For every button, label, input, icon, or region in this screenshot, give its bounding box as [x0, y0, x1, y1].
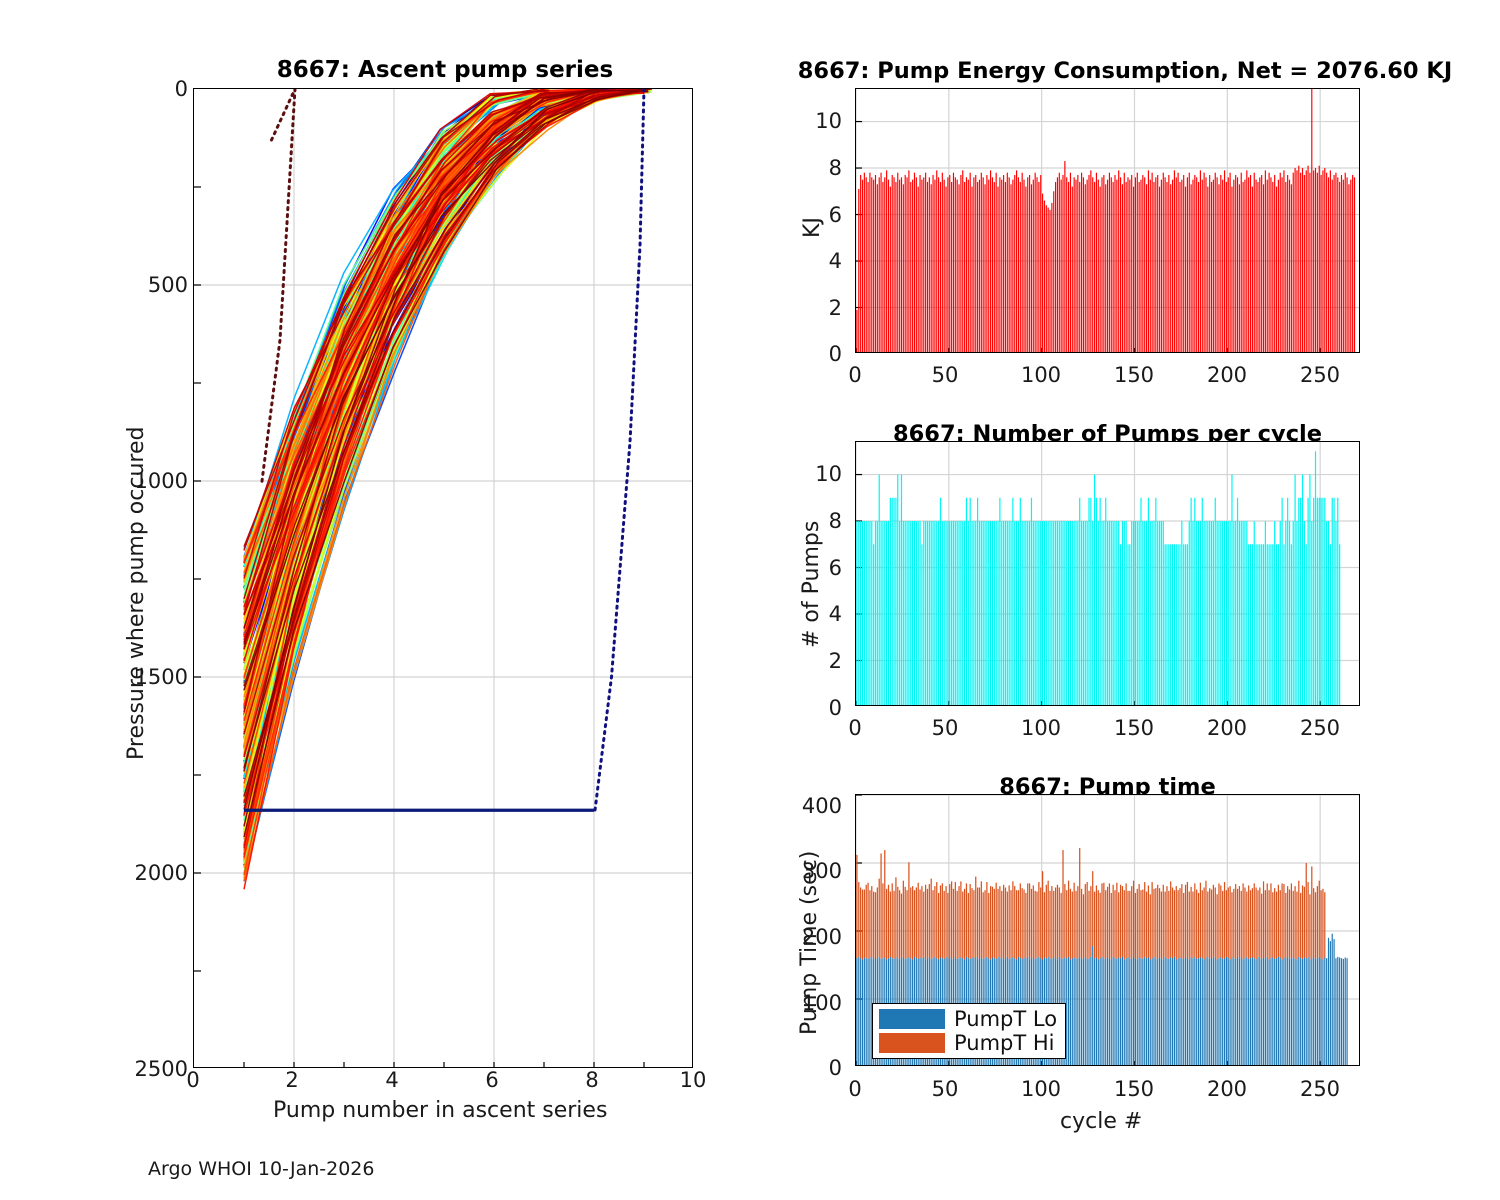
numpumps-ytick-2: 2: [800, 649, 842, 673]
pumptime-xtick-150: 150: [1109, 1077, 1159, 1101]
legend-item-pumpt-hi[interactable]: PumpT Hi: [879, 1033, 1057, 1053]
energy-xtick-150: 150: [1109, 363, 1159, 387]
ascent-xtick-10: 10: [675, 1068, 711, 1092]
energy-bars-canvas: [856, 89, 1360, 353]
ascent-ytick-0: 0: [164, 77, 188, 101]
ascent-x-axis-label: Pump number in ascent series: [273, 1098, 607, 1123]
pumptime-xtick-100: 100: [1016, 1077, 1066, 1101]
legend-item-pumpt-lo[interactable]: PumpT Lo: [879, 1009, 1057, 1029]
ascent-xtick-6: 6: [477, 1068, 507, 1092]
numpumps-xtick-100: 100: [1016, 716, 1066, 740]
legend-label-pumpt-lo: PumpT Lo: [954, 1009, 1057, 1029]
numpumps-plot-area: [855, 441, 1360, 706]
ascent-xtick-2: 2: [277, 1068, 307, 1092]
figure-footer: Argo WHOI 10-Jan-2026: [148, 1158, 374, 1180]
energy-xtick-50: 50: [925, 363, 965, 387]
energy-ytick-6: 6: [800, 203, 842, 227]
numpumps-bars-canvas: [856, 442, 1360, 706]
numpumps-y-axis-label: # of Pumps: [799, 521, 824, 648]
numpumps-xtick-150: 150: [1109, 716, 1159, 740]
pumptime-ytick-200: 200: [785, 925, 842, 949]
energy-plot-area: [855, 88, 1360, 353]
ascent-ytick-1000: 1000: [128, 469, 188, 493]
energy-ytick-2: 2: [800, 296, 842, 320]
ascent-plot-area: [193, 88, 693, 1068]
energy-xtick-100: 100: [1016, 363, 1066, 387]
pumptime-xtick-50: 50: [925, 1077, 965, 1101]
pumptime-xtick-0: 0: [841, 1077, 869, 1101]
numpumps-ytick-6: 6: [800, 556, 842, 580]
legend-label-pumpt-hi: PumpT Hi: [954, 1033, 1055, 1053]
pumptime-xtick-200: 200: [1202, 1077, 1252, 1101]
numpumps-ytick-10: 10: [800, 462, 842, 486]
energy-ytick-0: 0: [800, 342, 842, 366]
ascent-ytick-500: 500: [140, 273, 188, 297]
numpumps-ytick-0: 0: [800, 696, 842, 720]
pumptime-ytick-0: 0: [785, 1056, 842, 1080]
legend-swatch-pumpt-lo: [879, 1009, 945, 1029]
figure-canvas: 8667: Ascent pump series Pressure where …: [0, 0, 1500, 1200]
energy-ytick-10: 10: [800, 109, 842, 133]
ascent-xtick-8: 8: [577, 1068, 607, 1092]
pumptime-ytick-400: 400: [785, 794, 842, 818]
energy-ytick-4: 4: [800, 249, 842, 273]
numpumps-ytick-4: 4: [800, 602, 842, 626]
pumptime-ytick-300: 300: [785, 859, 842, 883]
pumptime-x-axis-label: cycle #: [1060, 1109, 1142, 1134]
energy-ytick-8: 8: [800, 156, 842, 180]
pumptime-legend[interactable]: PumpT Lo PumpT Hi: [872, 1003, 1066, 1059]
numpumps-xtick-200: 200: [1202, 716, 1252, 740]
numpumps-xtick-250: 250: [1295, 716, 1345, 740]
numpumps-xtick-0: 0: [841, 716, 869, 740]
ascent-panel-title: 8667: Ascent pump series: [195, 57, 695, 83]
ascent-series-canvas: [194, 89, 693, 1068]
energy-xtick-200: 200: [1202, 363, 1252, 387]
energy-xtick-0: 0: [841, 363, 869, 387]
energy-panel-title: 8667: Pump Energy Consumption, Net = 207…: [760, 58, 1490, 84]
ascent-ytick-2000: 2000: [128, 861, 188, 885]
ascent-xtick-4: 4: [377, 1068, 407, 1092]
numpumps-xtick-50: 50: [925, 716, 965, 740]
pumptime-xtick-250: 250: [1295, 1077, 1345, 1101]
energy-xtick-250: 250: [1295, 363, 1345, 387]
legend-swatch-pumpt-hi: [879, 1033, 945, 1053]
ascent-xtick-0: 0: [178, 1068, 208, 1092]
numpumps-ytick-8: 8: [800, 509, 842, 533]
ascent-ytick-1500: 1500: [128, 665, 188, 689]
pumptime-ytick-100: 100: [785, 991, 842, 1015]
